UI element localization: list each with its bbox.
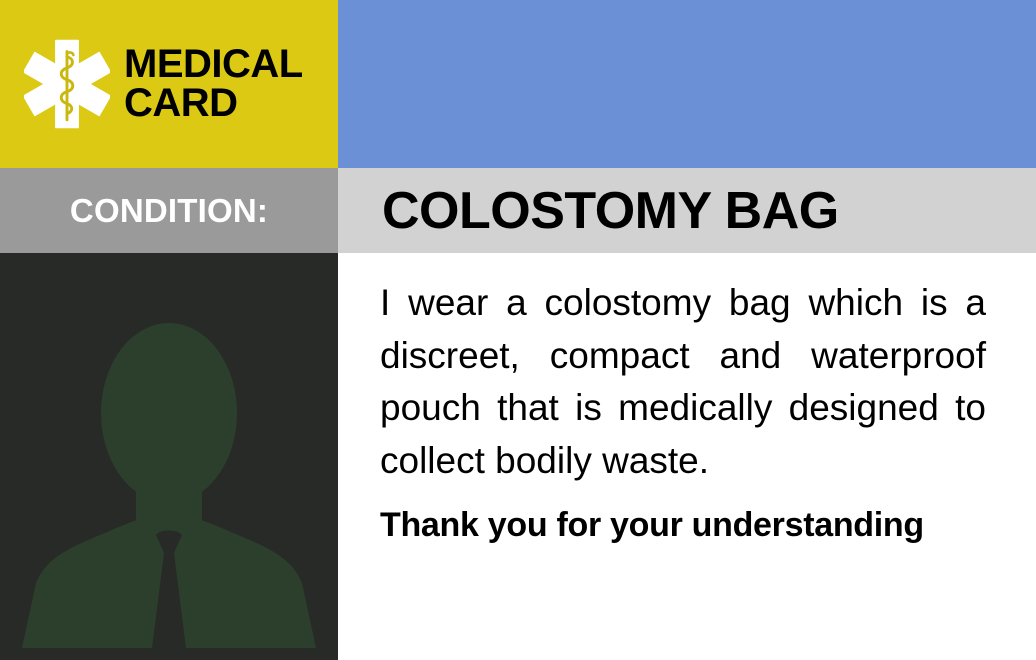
header-accent-block: [338, 0, 1036, 168]
photo-panel: [0, 253, 338, 660]
star-of-life-icon: [24, 38, 110, 130]
condition-label-panel: CONDITION:: [0, 168, 338, 253]
person-avatar-icon: [0, 253, 338, 660]
medical-card: MEDICAL CARD CONDITION: COLOSTOMY BAG I …: [0, 0, 1036, 660]
body-panel: I wear a colostomy bag which is a discre…: [338, 253, 1036, 660]
condition-value: COLOSTOMY BAG: [382, 185, 839, 237]
condition-description: I wear a colostomy bag which is a discre…: [380, 277, 986, 487]
closing-message: Thank you for your understanding: [380, 505, 986, 546]
brand-title-line-2: CARD: [124, 84, 303, 123]
brand-header: MEDICAL CARD: [0, 0, 338, 168]
condition-value-panel: COLOSTOMY BAG: [338, 168, 1036, 253]
brand-title-line-1: MEDICAL: [124, 45, 303, 84]
condition-label: CONDITION:: [70, 192, 268, 230]
brand-title: MEDICAL CARD: [124, 45, 303, 123]
